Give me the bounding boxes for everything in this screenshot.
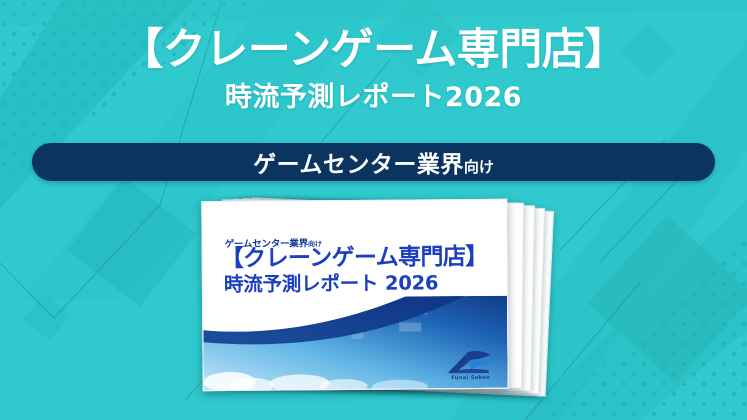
cover-title-line1: 【クレーンゲーム専門店】 xyxy=(221,245,488,273)
report-cover: ゲームセンター業界向け 【クレーンゲーム専門店】 時流予測レポート 2026 F… xyxy=(201,199,508,391)
banner-canvas: 【クレーンゲーム専門店】 時流予測レポート2026 ゲームセンター業界向け xyxy=(0,0,747,420)
cover-title-line2: 時流予測レポート 2026 xyxy=(224,272,439,296)
cover-logo: Funai Soken xyxy=(442,350,498,381)
report-document-stack: ゲームセンター業界向け 【クレーンゲーム専門店】 時流予測レポート 2026 F… xyxy=(196,196,556,396)
banner-title-main: 【クレーンゲーム専門店】 xyxy=(0,28,747,74)
report-cover-inner: ゲームセンター業界向け 【クレーンゲーム専門店】 時流予測レポート 2026 F… xyxy=(202,200,507,390)
target-industry-main: ゲームセンター業界 xyxy=(253,145,464,179)
target-industry-text: ゲームセンター業界向け xyxy=(253,145,494,179)
funai-soken-wave-logo xyxy=(442,350,498,374)
headline-block: 【クレーンゲーム専門店】 時流予測レポート2026 xyxy=(0,28,747,112)
cover-logo-name: Funai Soken xyxy=(443,375,499,381)
banner-title-sub: 時流予測レポート2026 xyxy=(0,83,747,113)
target-industry-suffix: 向け xyxy=(464,156,494,177)
target-industry-banner: ゲームセンター業界向け xyxy=(32,143,715,181)
